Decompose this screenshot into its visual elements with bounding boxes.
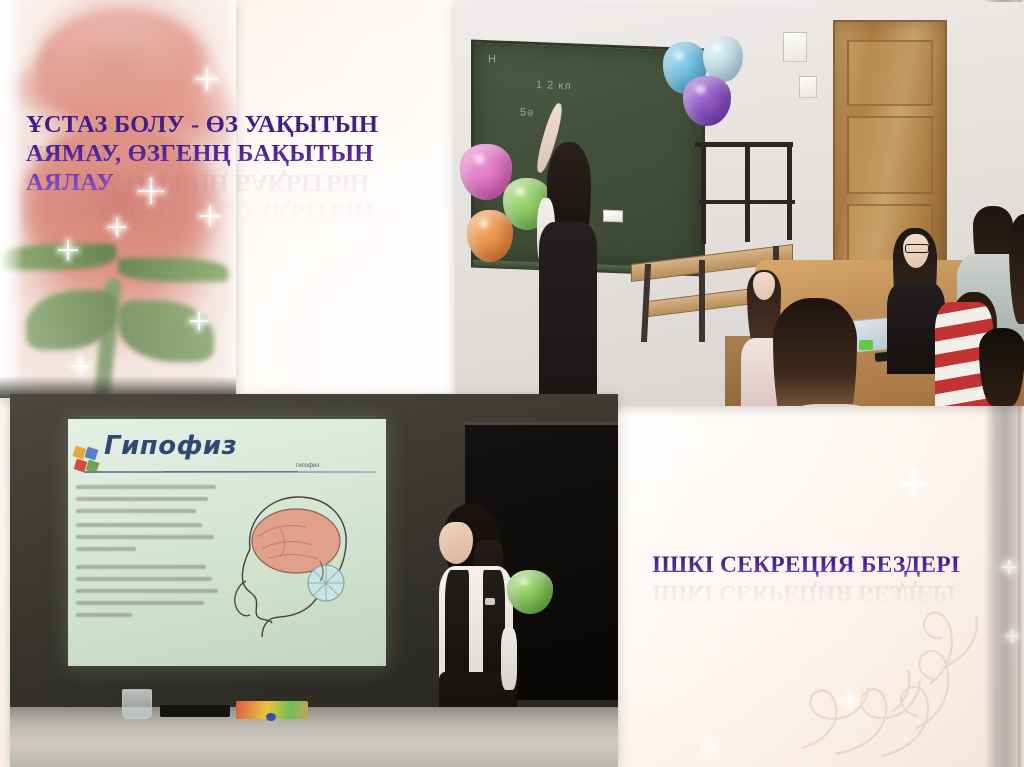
- rose-photo-left-band: [0, 0, 24, 398]
- presentation-photo: Гипофиз гипофиз: [10, 394, 618, 767]
- slide-canvas: Н 1 2 кл 5ә: [0, 0, 1024, 767]
- student-hair: [773, 298, 857, 406]
- slide-logo-icon: [74, 447, 100, 473]
- front-table: [10, 707, 618, 767]
- slide-body-line: [76, 523, 202, 527]
- dark-object: [160, 705, 230, 717]
- slide-body-line: [76, 547, 136, 551]
- slide-body-line: [76, 577, 212, 581]
- door-panel: [847, 40, 933, 106]
- slide-diagram-label: гипофиз: [296, 463, 319, 469]
- right-title-text: ІШКІ СЕКРЕЦИЯ БЕЗДЕРІ: [652, 551, 1012, 579]
- desk-leg: [699, 260, 705, 342]
- student-hair: [979, 328, 1024, 406]
- chalkboard-writing: Н: [488, 53, 497, 65]
- chalkboard-writing: 1 2 кл: [536, 79, 572, 92]
- slide-body-line: [76, 565, 206, 569]
- slide-body-line: [76, 509, 196, 513]
- chalkboard-writing: 5ә: [520, 106, 534, 119]
- slide-body-line: [76, 613, 132, 617]
- corner-flourish-ornament-bottom-right: [796, 608, 996, 763]
- rose-photo-shading: [0, 0, 236, 398]
- pink-rose-photo: [0, 0, 236, 398]
- rack-post: [745, 142, 750, 242]
- left-title-text: ҰСТАЗ БОЛУ - ӨЗ УАҚЫТЫН АЯМАУ, ӨЗГЕНҢ БА…: [26, 110, 426, 197]
- presenter-sleeve: [501, 628, 517, 690]
- chalk-eraser: [603, 210, 623, 223]
- slide-body-line: [76, 485, 216, 489]
- slide-leader-line: [164, 471, 298, 472]
- vest-brooch: [485, 598, 495, 605]
- student-body: [539, 222, 597, 406]
- slide-body-line: [76, 601, 204, 605]
- projected-slide: Гипофиз гипофиз: [68, 419, 386, 666]
- rack-bar: [699, 200, 795, 204]
- equipment-rack: [695, 142, 815, 252]
- wall-notice: [799, 76, 817, 98]
- presenter-vest-left: [445, 570, 469, 682]
- slide-body-line: [76, 589, 218, 593]
- eyeglasses: [905, 244, 929, 253]
- glass-cup: [122, 689, 152, 719]
- rack-post: [787, 142, 792, 240]
- slide-body-line: [76, 535, 214, 539]
- rack-post: [701, 142, 706, 244]
- wall-notice: [783, 32, 807, 62]
- slide-title: Гипофиз: [104, 431, 237, 461]
- rack-bar: [695, 142, 793, 147]
- door-panel: [847, 116, 933, 194]
- green-marker: [859, 340, 873, 350]
- slide-body-line: [76, 497, 208, 501]
- classroom-lesson-photo: Н 1 2 кл 5ә: [455, 2, 1024, 406]
- brain-diagram: [228, 489, 358, 637]
- small-item: [266, 713, 276, 721]
